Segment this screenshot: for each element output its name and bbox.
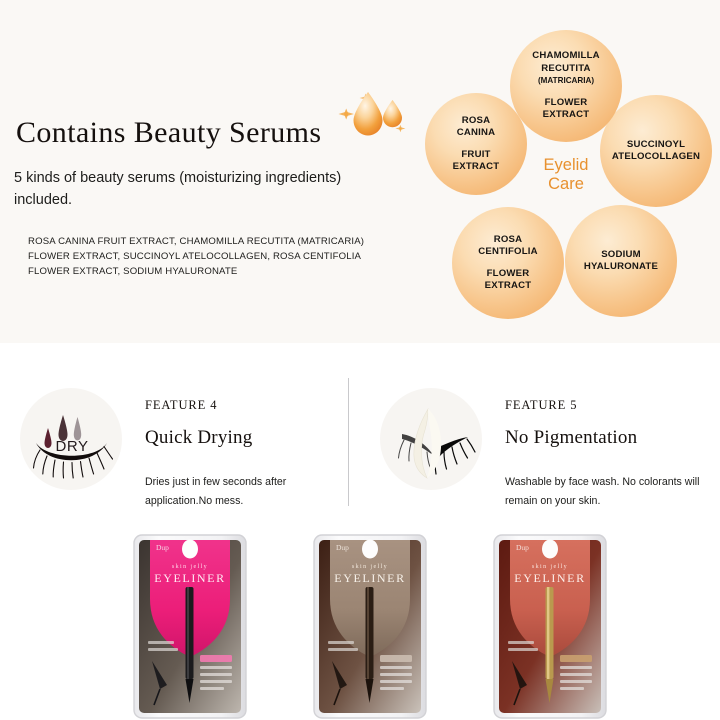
ingredient-bubble-rosa-centifolia: ROSA CENTIFOLIA FLOWER EXTRACT [452,207,564,319]
feature-quick-drying: DRY FEATURE 4 Quick Drying [0,380,348,520]
svg-text:DRY: DRY [56,438,89,455]
bubble-line-1: SUCCINOYL [627,139,685,152]
svg-text:Dup: Dup [336,543,349,552]
bubble-line-1: SODIUM [601,249,641,262]
ingredient-bubble-rosa-canina: ROSA CANINA FRUIT EXTRACT [425,93,527,195]
feature-description: Dries just in few seconds after applicat… [145,473,335,511]
serum-ingredient-list: ROSA CANINA FRUIT EXTRACT, CHAMOMILLA RE… [28,234,378,279]
product-package-eyeliner-brown[interactable]: Dup skin jelly EYELINER [310,533,430,720]
feature-title: No Pigmentation [505,427,720,449]
eyelid-care-ingredient-diagram: CHAMOMILLA RECUTITA (MATRICARIA) FLOWER … [418,18,718,326]
bubble-line-small: (MATRICARIA) [538,75,594,88]
page-title: Contains Beauty Serums [16,116,321,150]
ingredient-bubble-chamomilla: CHAMOMILLA RECUTITA (MATRICARIA) FLOWER … [510,30,622,142]
feature-text-block: FEATURE 5 No Pigmentation Washable by fa… [505,398,720,511]
svg-text:skin jelly: skin jelly [532,564,568,570]
bubble-line-1: ROSA [462,115,491,128]
bubble-line-2: ATELOCOLLAGEN [612,151,700,164]
no-pigmentation-eyelash-icon [380,388,482,490]
diagram-center-label-line2: Care [524,175,608,194]
svg-text:EYELINER: EYELINER [154,571,225,585]
product-package-eyeliner-red[interactable]: Dup skin jelly EYELINER [490,533,610,720]
svg-text:skin jelly: skin jelly [172,564,208,570]
bubble-line-3: FLOWER [487,268,530,281]
bubble-line-2: RECUTITA [541,63,590,76]
svg-text:EYELINER: EYELINER [514,571,585,585]
product-package-row: Dup skin jelly EYELINER [0,533,720,720]
ingredient-bubble-succinoyl: SUCCINOYL ATELOCOLLAGEN [600,95,712,207]
feature-text-block: FEATURE 4 Quick Drying Dries just in few… [145,398,345,511]
bubble-line-2: CENTIFOLIA [478,246,538,259]
product-detail-page: Contains Beauty Serums [0,0,720,720]
diagram-center-label-line1: Eyelid [524,156,608,175]
svg-text:skin jelly: skin jelly [352,564,388,570]
bubble-line-2: CANINA [457,127,496,140]
ingredient-bubble-sodium-hyaluronate: SODIUM HYALURONATE [565,205,677,317]
feature-divider [348,378,349,506]
feature-no-pigmentation: FEATURE 5 No Pigmentation Washable by fa… [360,380,710,520]
svg-text:Dup: Dup [156,543,169,552]
dry-eyelash-icon: DRY [20,388,122,490]
feature-kicker: FEATURE 5 [505,398,720,413]
bubble-line-2: HYALURONATE [584,261,658,274]
diagram-center-label: Eyelid Care [524,156,608,194]
feature-description: Washable by face wash. No colorants will… [505,473,710,511]
bubble-line-4: EXTRACT [453,161,500,174]
svg-text:EYELINER: EYELINER [334,571,405,585]
bubble-line-1: CHAMOMILLA [532,50,600,63]
product-package-eyeliner-pink[interactable]: Dup skin jelly EYELINER [130,533,250,720]
bubble-line-4: EXTRACT [485,280,532,293]
svg-text:Dup: Dup [516,543,529,552]
beauty-serums-section: Contains Beauty Serums [0,0,720,343]
feature-title: Quick Drying [145,427,345,449]
serum-subtitle: 5 kinds of beauty serums (moisturizing i… [14,167,374,211]
bubble-line-3: FLOWER [545,97,588,110]
bubble-line-4: EXTRACT [543,109,590,122]
feature-kicker: FEATURE 4 [145,398,345,413]
serum-droplet-icon [336,84,412,140]
bubble-line-3: FRUIT [461,149,490,162]
bubble-line-1: ROSA [494,234,523,247]
